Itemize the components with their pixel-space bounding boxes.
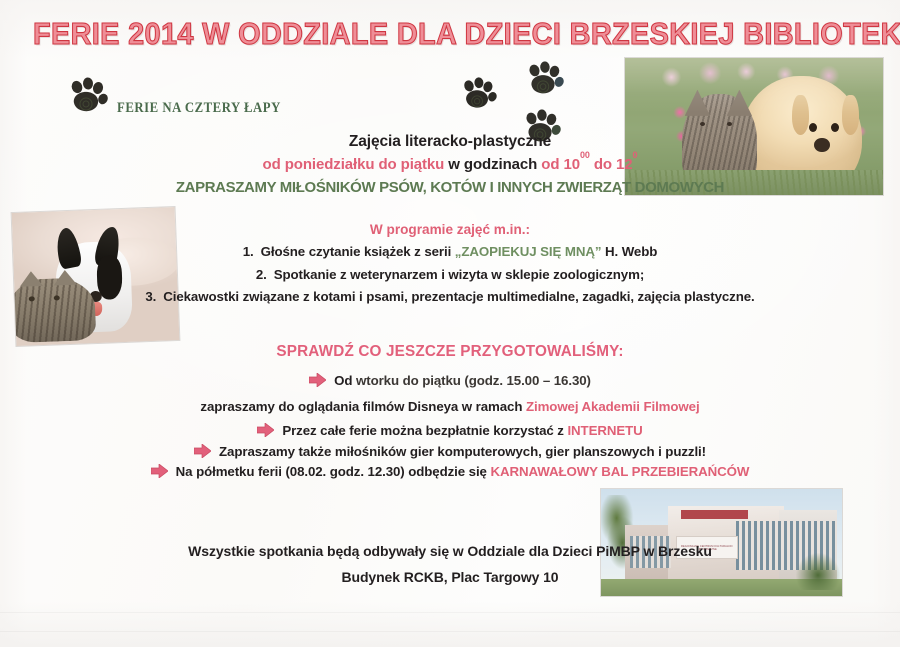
extras-bullet-text: Zapraszamy także miłośników gier kompute… <box>219 444 706 459</box>
paw-print-icon <box>459 76 497 112</box>
extras-bullet-highlight: KARNAWAŁOWY BAL PRZEBIERAŃCÓW <box>490 464 749 479</box>
extras-bullet: Od wtorku do piątku (godz. 15.00 – 16.30… <box>0 373 900 388</box>
extras-bullet-text: Przez całe ferie można bezpłatnie korzys… <box>282 423 564 438</box>
extras-bullet-text: wtorku do piątku (godz. 15.00 – 16.30) <box>356 373 591 388</box>
program-item: 3.Ciekawostki związane z kotami i psami,… <box>0 289 900 304</box>
scan-fold-line-1 <box>0 612 900 613</box>
footer-line-address: Budynek RCKB, Plac Targowy 10 <box>0 569 900 585</box>
program-item-text: Ciekawostki związane z kotami i psami, p… <box>163 289 754 304</box>
extras-bullet: Przez całe ferie można bezpłatnie korzys… <box>0 423 900 438</box>
photo-puppy-and-kitten <box>625 58 883 195</box>
program-heading: W programie zajęć m.in.: <box>0 222 900 237</box>
hours-from-text: od 10 <box>541 156 580 173</box>
block-arrow-right-icon <box>257 423 274 437</box>
program-item-index: 2. <box>256 267 267 282</box>
program-item-index: 3. <box>145 289 156 304</box>
block-arrow-right-icon <box>309 373 326 387</box>
hours-to-text: do 12 <box>594 156 633 173</box>
page-title: FERIE 2014 W ODDZIALE DLA DZIECI BRZESKI… <box>33 12 900 56</box>
program-item: 1.Głośne czytanie książek z serii „ZAOPI… <box>0 244 900 259</box>
green-subtitle: FERIE NA CZTERY ŁAPY <box>117 100 281 117</box>
hours-days-text: od poniedziałku do piątku <box>263 156 445 173</box>
program-item-text: Spotkanie z weterynarzem i wizyta w skle… <box>274 267 644 282</box>
block-arrow-right-icon <box>194 444 211 458</box>
header-line-activities: Zajęcia literacko-plastyczne <box>0 133 900 151</box>
program-item-highlight: „ZAOPIEKUJ SIĘ MNĄ” <box>455 244 602 259</box>
header-activities-text: Zajęcia literacko-plastyczne <box>349 133 551 150</box>
extras-bullet-highlight: INTERNETU <box>567 423 642 438</box>
title-band: FERIE 2014 W ODDZIALE DLA DZIECI BRZESKI… <box>0 12 900 60</box>
extras-bullet: Na półmetku ferii (08.02. godz. 12.30) o… <box>0 464 900 479</box>
program-item: 2.Spotkanie z weterynarzem i wizyta w sk… <box>0 267 900 282</box>
header-line-hours: od poniedziałku do piątku w godzinach od… <box>0 155 900 173</box>
program-item-index: 1. <box>243 244 254 259</box>
block-arrow-right-icon <box>151 464 168 478</box>
header-line-invitation: ZAPRASZAMY MIŁOŚNIKÓW PSÓW, KOTÓW I INNY… <box>7 179 894 196</box>
extras-heading: SPRAWDŹ CO JESZCZE PRZYGOTOWALIŚMY: <box>0 343 900 361</box>
program-item-text-after: H. Webb <box>605 244 657 259</box>
extras-bullet-highlight: Zimowej Akademii Filmowej <box>526 399 700 414</box>
program-item-text: Głośne czytanie książek z serii <box>261 244 452 259</box>
poster-canvas: FERIE 2014 W ODDZIALE DLA DZIECI BRZESKI… <box>0 0 900 647</box>
extras-bullet-text: zapraszamy do oglądania filmów Disneya w… <box>200 399 522 414</box>
scan-fold-line-2 <box>0 631 900 632</box>
paw-print-icon <box>66 76 108 116</box>
extras-bullet: zapraszamy do oglądania filmów Disneya w… <box>0 399 900 414</box>
footer-line-venue: Wszystkie spotkania będą odbywały się w … <box>0 543 900 559</box>
extras-bullet-lead: Od <box>334 373 352 388</box>
hours-from-sup: 00 <box>580 150 590 160</box>
extras-bullet: Zapraszamy także miłośników gier kompute… <box>0 444 900 459</box>
paw-print-icon <box>524 60 564 98</box>
hours-to-sup: 0 <box>633 150 638 160</box>
hours-label-text: w godzinach <box>448 156 537 173</box>
extras-bullet-text: Na półmetku ferii (08.02. godz. 12.30) o… <box>176 464 487 479</box>
